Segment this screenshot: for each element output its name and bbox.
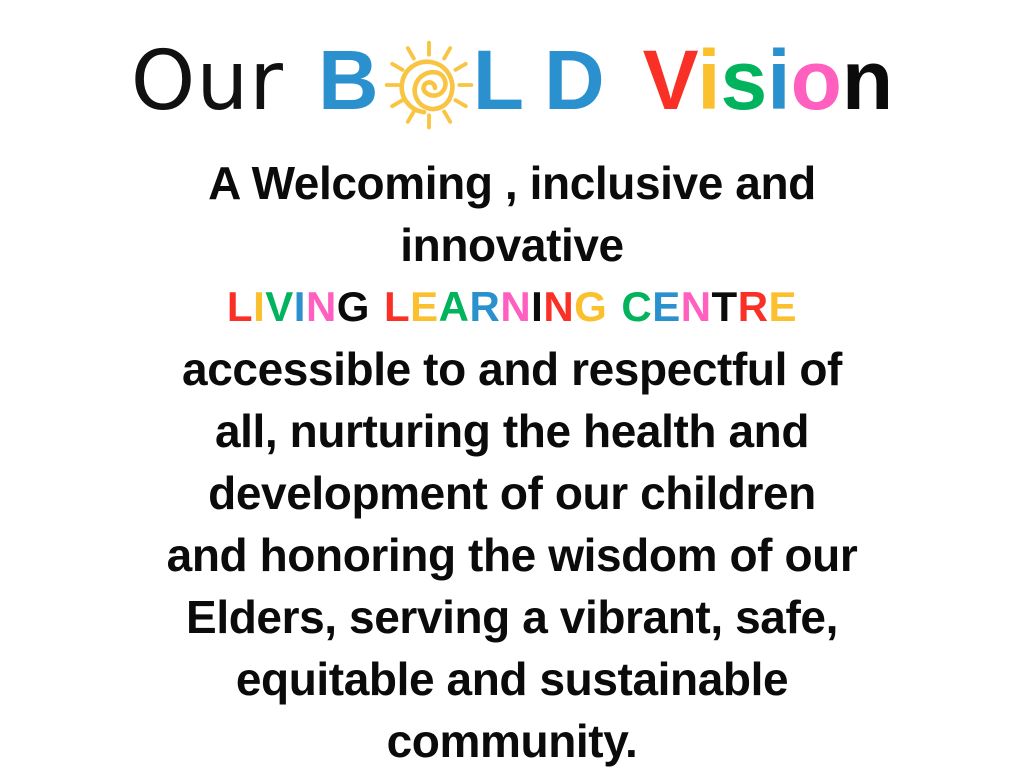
rainbow-letter-0-4: N — [306, 283, 337, 330]
rainbow-letter-0-0: L — [227, 283, 253, 330]
rainbow-letter-1-0: L — [384, 283, 410, 330]
title-word-vision: Vision — [643, 33, 894, 127]
rainbow-letter-0-1: I — [253, 283, 265, 330]
rainbow-letter-1-5: I — [531, 283, 543, 330]
vision-line-2: innovative — [0, 214, 1024, 276]
title-vision-letter-1: i — [697, 33, 720, 127]
title-vision-letter-3: i — [767, 33, 790, 127]
rainbow-letter-2-0: C — [621, 283, 652, 330]
title-vision-letter-4: o — [791, 33, 842, 127]
title-vision-letter-5: n — [842, 33, 893, 127]
vision-line-6: and honoring the wisdom of our — [0, 524, 1024, 586]
vision-line-9: community. — [0, 710, 1024, 772]
sun-spiral-icon — [383, 39, 475, 131]
rainbow-letter-1-7: G — [574, 283, 607, 330]
title-letter-b: B — [318, 33, 383, 127]
vision-line-5: development of our children — [0, 462, 1024, 524]
vision-line-4: all, nurturing the health and — [0, 400, 1024, 462]
living-learning-centre-label: LIVINGLEARNINGCENTRE — [0, 276, 1024, 338]
rainbow-letter-0-5: G — [337, 283, 370, 330]
rainbow-letter-2-2: N — [681, 283, 712, 330]
page-title: OurB — [0, 38, 1024, 131]
rainbow-letter-1-1: E — [410, 283, 439, 330]
rainbow-letter-1-6: N — [543, 283, 574, 330]
vision-line-3: accessible to and respectful of — [0, 338, 1024, 400]
title-word-bold: B — [318, 33, 609, 127]
rainbow-letter-1-3: R — [469, 283, 500, 330]
rainbow-word-living: LIVING — [227, 283, 370, 330]
rainbow-word-learning: LEARNING — [384, 283, 607, 330]
title-letter-l: L — [473, 33, 528, 127]
rainbow-letter-2-3: T — [712, 283, 738, 330]
title-vision-letter-2: s — [721, 33, 768, 127]
title-word-our: Our — [131, 34, 284, 129]
rainbow-letter-1-2: A — [439, 283, 470, 330]
rainbow-letter-1-4: N — [500, 283, 531, 330]
title-letter-d: D — [544, 33, 609, 127]
vision-line-1: A Welcoming , inclusive and — [0, 152, 1024, 214]
rainbow-letter-0-3: I — [294, 283, 306, 330]
title-vision-letter-0: V — [643, 33, 698, 127]
rainbow-letter-0-2: V — [265, 283, 294, 330]
vision-statement: A Welcoming , inclusive and innovative L… — [0, 152, 1024, 772]
rainbow-letter-2-5: E — [769, 283, 798, 330]
rainbow-word-centre: CENTRE — [621, 283, 797, 330]
vision-line-7: Elders, serving a vibrant, safe, — [0, 586, 1024, 648]
rainbow-letter-2-4: R — [738, 283, 769, 330]
vision-line-8: equitable and sustainable — [0, 648, 1024, 710]
rainbow-letter-2-1: E — [652, 283, 681, 330]
slide-canvas: OurB — [0, 0, 1024, 768]
